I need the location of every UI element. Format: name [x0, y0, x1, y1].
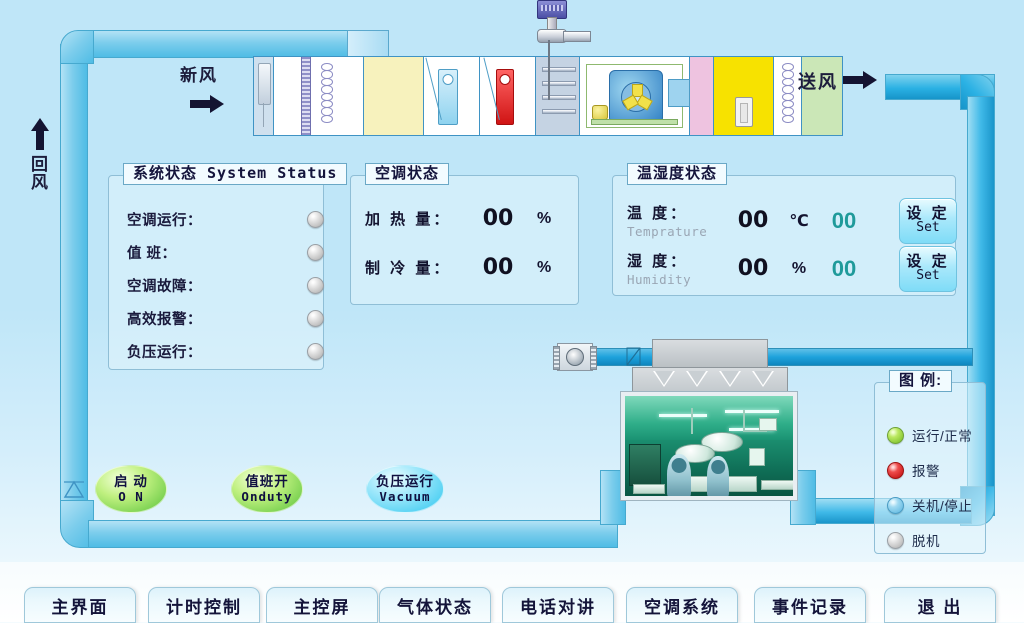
humidity-value: 00	[727, 256, 779, 281]
or-wall-monitor	[759, 418, 777, 431]
supply-air-label: 送风	[798, 68, 838, 94]
tab-main[interactable]: 主界面	[24, 587, 136, 623]
temperature-label: 温 度：	[627, 202, 727, 223]
fan-housing	[609, 70, 663, 124]
valve-pipe	[563, 31, 591, 42]
ac-row-heating: 加 热 量： 00 %	[365, 206, 551, 231]
heating-value: 00	[475, 206, 521, 231]
tab-label: 计时控制	[166, 593, 242, 618]
or-equipment-monitor	[749, 448, 765, 466]
ahu-pre-filter	[274, 57, 364, 135]
access-door-icon	[735, 97, 753, 127]
diffuser-cone-icon	[653, 371, 675, 387]
start-on-label-en: O N	[118, 490, 144, 504]
status-lamp-ac-fault	[307, 277, 324, 294]
tab-label: 事件记录	[772, 593, 848, 618]
legend-lamp-blue	[887, 497, 904, 514]
start-on-label-cn: 启 动	[114, 475, 148, 490]
status-lamp-ac-running	[307, 211, 324, 228]
or-surgeon	[667, 454, 691, 498]
tab-label: 主界面	[52, 593, 109, 618]
ahu-access-section	[690, 57, 714, 135]
return-air-arrow-up-icon	[31, 118, 49, 150]
fan-fin-right	[590, 346, 597, 370]
ac-status-panel: 空调状态 加 热 量： 00 % 制 冷 量： 00 %	[350, 175, 579, 305]
tab-label: 电话对讲	[520, 593, 596, 618]
ahu-heating-coil	[480, 57, 536, 135]
tab-hvac[interactable]: 空调系统	[626, 587, 738, 623]
fan-enclosure	[586, 64, 683, 128]
fan-base	[591, 119, 678, 125]
return-air-label: 回风	[31, 156, 49, 192]
humidity-unit: %	[779, 260, 819, 278]
tab-label: 主控屏	[294, 593, 351, 618]
cooling-label: 制 冷 量：	[365, 257, 475, 278]
tab-label: 气体状态	[397, 593, 473, 618]
legend-item-stopped: 关机/停止	[887, 495, 972, 515]
start-on-button[interactable]: 启 动 O N	[95, 465, 167, 513]
legend-label: 脱机	[912, 530, 940, 550]
system-status-panel: 系统状态 System Status 空调运行： 值 班： 空调故障： 高效报警…	[108, 175, 324, 370]
temperature-value: 00	[727, 208, 779, 233]
temp-humidity-title: 温湿度状态	[627, 163, 727, 185]
ahu-supply-fan	[580, 57, 690, 135]
duct-corner-topleft	[60, 30, 94, 64]
tab-label: 退 出	[918, 593, 963, 618]
fan-motor-icon	[592, 105, 608, 120]
ac-row-cooling: 制 冷 量： 00 %	[365, 255, 551, 280]
legend-item-running: 运行/正常	[887, 425, 972, 445]
diffuser-cone-icon	[686, 371, 708, 387]
filter-media	[301, 57, 311, 135]
duct-damper-mid	[626, 345, 642, 363]
fan-blade-icon	[621, 82, 651, 112]
duct-return-mid-right	[758, 348, 973, 366]
temperature-unit: ℃	[779, 211, 819, 231]
tab-label: 空调系统	[644, 593, 720, 618]
duct-top-horizontal	[80, 30, 360, 58]
fan-outlet	[668, 79, 690, 107]
legend-label: 报警	[912, 460, 940, 480]
duct-left-riser	[60, 44, 88, 514]
ahu-cooling-coil	[424, 57, 480, 135]
heating-label: 加 热 量：	[365, 208, 475, 229]
duct-bottom-horizontal	[88, 520, 618, 548]
onduty-label-cn: 值班开	[245, 475, 289, 490]
humidity-setpoint: 00	[819, 256, 869, 282]
cooling-value: 00	[475, 255, 521, 280]
legend-item-alarm: 报警	[887, 460, 940, 480]
vacuum-label-cn: 负压运行	[376, 475, 434, 490]
tab-gas-status[interactable]: 气体状态	[379, 587, 491, 623]
status-lamp-hepa-alarm	[307, 310, 324, 327]
cooling-unit: %	[537, 259, 551, 277]
legend-title: 图 例:	[889, 370, 952, 392]
operating-room-photo	[621, 392, 797, 500]
status-row-ac-fault: 空调故障：	[127, 274, 377, 296]
system-status-title: 系统状态 System Status	[123, 163, 347, 185]
status-row-negative-pressure: 负压运行：	[127, 340, 377, 362]
status-lamp-on-duty	[307, 244, 324, 261]
status-row-on-duty: 值 班：	[127, 241, 377, 263]
set-button-label-en: Set	[916, 221, 939, 236]
coil-diagonal	[499, 74, 511, 120]
legend-lamp-green	[887, 427, 904, 444]
th-row-humidity: 湿 度： Humidity 00 % 00	[627, 250, 869, 287]
humidity-sublabel: Humidity	[627, 272, 727, 287]
tab-exit[interactable]: 退 出	[884, 587, 996, 623]
bottom-navigation-bar: 主界面 计时控制 主控屏 气体状态 电话对讲 空调系统 事件记录 退 出	[0, 562, 1024, 622]
status-row-ac-running: 空调运行：	[127, 208, 377, 230]
diffuser-cone-icon	[752, 371, 774, 387]
fan-fin-left	[553, 346, 560, 370]
status-row-hepa-alarm: 高效报警：	[127, 307, 377, 329]
tab-main-control[interactable]: 主控屏	[266, 587, 378, 623]
heating-coil-plate	[496, 69, 514, 125]
motorized-valve-icon	[527, 0, 587, 52]
ac-status-title: 空调状态	[365, 163, 449, 185]
or-cabinet	[629, 444, 661, 486]
status-lamp-negative-pressure	[307, 343, 324, 360]
or-instrument-tray	[633, 484, 665, 494]
humidity-label: 湿 度：	[627, 250, 727, 271]
hvac-mimic-diagram: 新风 回风 送风 系统状态 System Status 空调运行： 值 班： 空…	[0, 0, 1024, 562]
or-ceiling-light	[725, 410, 779, 413]
ahu-inlet-damper	[254, 57, 274, 135]
supply-plenum	[652, 339, 768, 369]
legend-panel: 图 例: 运行/正常 报警 关机/停止 脱机	[874, 382, 986, 554]
tab-timer[interactable]: 计时控制	[148, 587, 260, 623]
legend-item-offline: 脱机	[887, 530, 940, 550]
duct-return-mid-left	[590, 348, 660, 366]
onduty-button[interactable]: 值班开 Onduty	[231, 465, 303, 513]
status-label: 负压运行：	[127, 341, 307, 362]
cooling-coil-plate	[438, 69, 458, 125]
heating-unit: %	[537, 210, 551, 228]
legend-label: 运行/正常	[912, 425, 972, 445]
return-fan-icon	[557, 343, 593, 371]
th-row-temperature: 温 度： Temprature 00 ℃ 00	[627, 202, 869, 239]
vacuum-label-en: Vacuum	[379, 490, 430, 504]
onduty-label-en: Onduty	[241, 490, 292, 504]
coil-icon	[321, 63, 333, 131]
temperature-sublabel: Temprature	[627, 224, 727, 239]
valve-downpipe	[548, 40, 550, 100]
status-label: 值 班：	[127, 242, 307, 263]
ahu-heat-recovery	[714, 57, 774, 135]
or-pendant-arm	[691, 408, 693, 434]
fresh-air-label: 新风	[180, 61, 218, 86]
fan-hub	[566, 348, 584, 366]
or-pendant-arm	[743, 410, 745, 432]
humidity-set-button[interactable]: 设 定 Set	[899, 246, 957, 292]
status-label: 空调运行：	[127, 209, 307, 230]
diffuser-housing	[632, 367, 788, 392]
coil-diagonal	[441, 74, 455, 120]
diffuser-cone-icon	[719, 371, 741, 387]
legend-lamp-grey	[887, 532, 904, 549]
temperature-set-button[interactable]: 设 定 Set	[899, 198, 957, 244]
set-button-label-en: Set	[916, 269, 939, 284]
set-button-label-cn: 设 定	[906, 254, 949, 270]
temperature-setpoint: 00	[819, 208, 869, 234]
set-button-label-cn: 设 定	[906, 206, 949, 222]
or-surgeon	[707, 456, 729, 498]
ahu-humidifier	[536, 57, 580, 135]
tab-intercom[interactable]: 电话对讲	[502, 587, 614, 623]
legend-lamp-red	[887, 462, 904, 479]
status-label: 高效报警：	[127, 308, 307, 329]
temp-humidity-panel: 温湿度状态 温 度： Temprature 00 ℃ 00 设 定 Set 湿 …	[612, 175, 956, 296]
or-side-table	[761, 480, 795, 490]
or-ceiling-light	[659, 414, 707, 417]
vacuum-button[interactable]: 负压运行 Vacuum	[366, 465, 444, 513]
damper-icon	[62, 478, 86, 500]
tab-event-log[interactable]: 事件记录	[754, 587, 866, 623]
final-filter-coil	[782, 63, 794, 131]
ahu-mixing-box	[364, 57, 424, 135]
status-label: 空调故障：	[127, 275, 307, 296]
legend-label: 关机/停止	[912, 495, 972, 515]
